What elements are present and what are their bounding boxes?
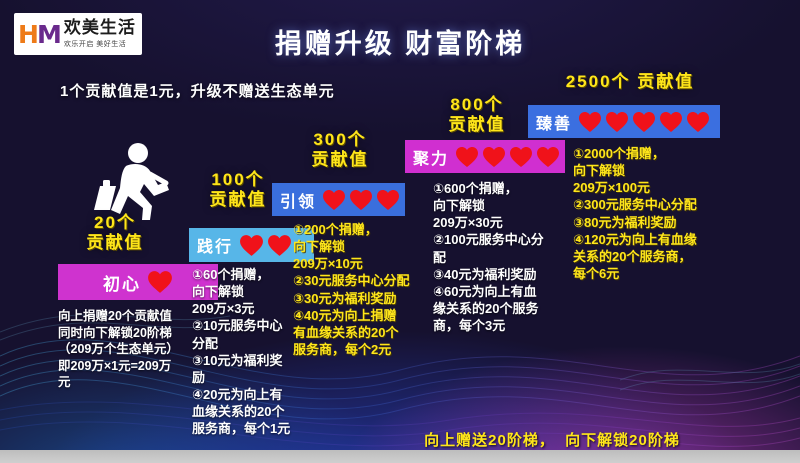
heart-icon xyxy=(578,111,602,133)
step-hearts-1 xyxy=(147,270,173,294)
heart-icon xyxy=(376,189,400,211)
step-caption-3: 300个 贡献值 xyxy=(284,130,396,170)
step-caption-1: 20个 贡献值 xyxy=(60,213,170,253)
step-name-4: 聚力 xyxy=(413,145,449,169)
step-hearts-2 xyxy=(239,234,292,257)
heart-icon xyxy=(659,111,683,133)
step-detail-3: ①200个捐赠， 向下解锁 209万×10元 ②30元服务中心分配 ③30元为福… xyxy=(293,221,423,358)
step-detail-5: ①2000个捐赠， 向下解锁 209万×100元 ②300元服务中心分配 ③80… xyxy=(573,145,723,282)
step-name-5: 臻善 xyxy=(536,110,572,134)
step-caption-5: 2500个 贡献值 xyxy=(535,72,725,92)
page-title: 捐赠升级 财富阶梯 xyxy=(0,22,800,61)
poster-canvas: HM 欢美生活 欢乐开启 美好生活 捐赠升级 财富阶梯 1个贡献值是1元，升级不… xyxy=(0,0,800,463)
step-bar-4[interactable]: 聚力 xyxy=(405,140,565,173)
heart-icon xyxy=(455,146,479,168)
heart-icon xyxy=(686,111,710,133)
footer-slogan-line1: 向上赠送20阶梯， 向下解锁20阶梯 xyxy=(392,430,712,452)
heart-icon xyxy=(482,146,506,168)
heart-icon xyxy=(536,146,560,168)
step-name-3: 引领 xyxy=(280,188,316,212)
page-subtitle: 1个贡献值是1元，升级不赠送生态单元 xyxy=(60,80,335,101)
step-hearts-5 xyxy=(578,111,710,133)
step-bar-5[interactable]: 臻善 xyxy=(528,105,720,138)
heart-icon xyxy=(605,111,629,133)
step-hearts-3 xyxy=(322,189,400,211)
heart-icon xyxy=(267,234,292,257)
heart-icon xyxy=(322,189,346,211)
step-name-2: 践行 xyxy=(197,233,233,257)
heart-icon xyxy=(239,234,264,257)
heart-icon xyxy=(509,146,533,168)
step-name-1: 初心 xyxy=(103,270,141,295)
footer-slogan: 向上赠送20阶梯， 向下解锁20阶梯 牙签撬地球 小生意大商机 xyxy=(392,386,712,463)
step-bar-3[interactable]: 引领 xyxy=(272,183,405,216)
heart-icon xyxy=(349,189,373,211)
step-hearts-4 xyxy=(455,146,560,168)
heart-icon xyxy=(632,111,656,133)
step-detail-4: ①600个捐赠， 向下解锁 209万×30元 ②100元服务中心分 配 ③40元… xyxy=(433,180,555,334)
step-caption-4: 800个 贡献值 xyxy=(421,95,533,135)
heart-icon xyxy=(147,270,173,294)
